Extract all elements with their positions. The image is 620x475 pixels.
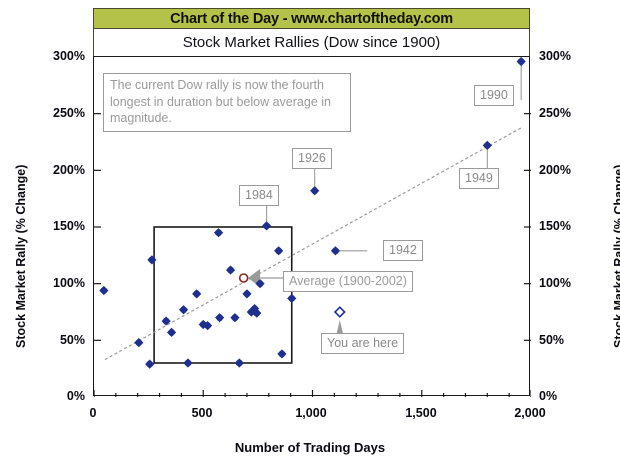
data-point (134, 338, 143, 347)
y-tick-left-0: 0% (31, 389, 85, 403)
data-point-diamond (287, 294, 296, 303)
callout-1990: 1990 (474, 85, 514, 106)
y-tick-left-250: 250% (31, 106, 85, 120)
callout-1984: 1984 (239, 185, 279, 206)
y-tick-right-0: 0% (539, 389, 595, 403)
callout-1949: 1949 (459, 168, 499, 189)
data-point (183, 358, 192, 367)
data-point-diamond (235, 358, 244, 367)
y-tick-right-150: 150% (539, 219, 595, 233)
y-tick-right-300: 300% (539, 49, 595, 63)
data-point-diamond (517, 57, 526, 66)
x-tick-500: 500 (172, 406, 232, 420)
data-point-diamond (147, 255, 156, 264)
data-point-diamond (230, 313, 239, 322)
data-point (215, 313, 224, 322)
data-point-diamond (277, 349, 286, 358)
chart-subtitle: Stock Market Rallies (Dow since 1900) (183, 34, 441, 51)
x-tick-2000: 2,000 (500, 406, 560, 420)
x-tick-1000: 1,000 (281, 406, 341, 420)
y-tick-left-300: 300% (31, 49, 85, 63)
y-tick-right-200: 200% (539, 163, 595, 177)
y-tick-left-50: 50% (31, 333, 85, 347)
data-point-diamond (214, 228, 223, 237)
data-point-diamond (483, 141, 492, 150)
data-point-diamond (274, 246, 283, 255)
data-point (331, 246, 340, 255)
y-tick-left-200: 200% (31, 163, 85, 177)
data-point-diamond (167, 328, 176, 337)
data-point (145, 360, 154, 369)
x-tick-0: 0 (63, 406, 123, 420)
data-point-diamond (145, 360, 154, 369)
y-tick-left-150: 150% (31, 219, 85, 233)
data-point-diamond (179, 305, 188, 314)
data-point-diamond (262, 221, 271, 230)
callout-1926: 1926 (292, 148, 332, 169)
callout-1942: 1942 (383, 240, 423, 261)
data-point-diamond (242, 289, 251, 298)
data-point (99, 286, 108, 295)
x-axis-title: Number of Trading Days (0, 440, 620, 455)
y-tick-right-50: 50% (539, 333, 595, 347)
data-point (230, 313, 239, 322)
data-point (226, 265, 235, 274)
data-point (483, 141, 492, 150)
y-axis-title-right: Stock Market Rally (% Change) (612, 165, 620, 348)
data-point-diamond (215, 313, 224, 322)
data-point-diamond (99, 286, 108, 295)
y-tick-right-250: 250% (539, 106, 595, 120)
data-point-diamond (192, 289, 201, 298)
reference-box (154, 227, 292, 363)
data-point-diamond (310, 186, 319, 195)
callout-average: Average (1900-2002) (283, 271, 413, 292)
y-axis-title-left: Stock Market Rally (% Change) (14, 165, 28, 348)
data-point-diamond (183, 358, 192, 367)
data-point (274, 246, 283, 255)
data-point (147, 255, 156, 264)
data-point (310, 186, 319, 195)
average-marker (240, 274, 248, 282)
y-tick-right-100: 100% (539, 276, 595, 290)
data-point (277, 349, 286, 358)
data-point (192, 289, 201, 298)
you-are-here-marker (335, 307, 345, 317)
chart-page: Chart of the Day - www.chartoftheday.com… (0, 0, 620, 475)
callout-note: The current Dow rally is now the fourth … (103, 73, 351, 132)
brand-title: Chart of the Day - www.chartoftheday.com (170, 11, 453, 27)
data-point (242, 289, 251, 298)
data-point-diamond (331, 246, 340, 255)
chart-subtitle-band: Stock Market Rallies (Dow since 1900) (93, 29, 530, 56)
data-point (287, 294, 296, 303)
data-point-diamond (226, 265, 235, 274)
callout-you-are-here: You are here (321, 333, 404, 354)
data-point-diamond (134, 338, 143, 347)
data-point (517, 57, 526, 66)
brand-title-band: Chart of the Day - www.chartoftheday.com (93, 8, 530, 29)
data-point (167, 328, 176, 337)
x-tick-1500: 1,500 (391, 406, 451, 420)
data-point (262, 221, 271, 230)
data-point (235, 358, 244, 367)
data-point (179, 305, 188, 314)
y-tick-left-100: 100% (31, 276, 85, 290)
data-point (214, 228, 223, 237)
